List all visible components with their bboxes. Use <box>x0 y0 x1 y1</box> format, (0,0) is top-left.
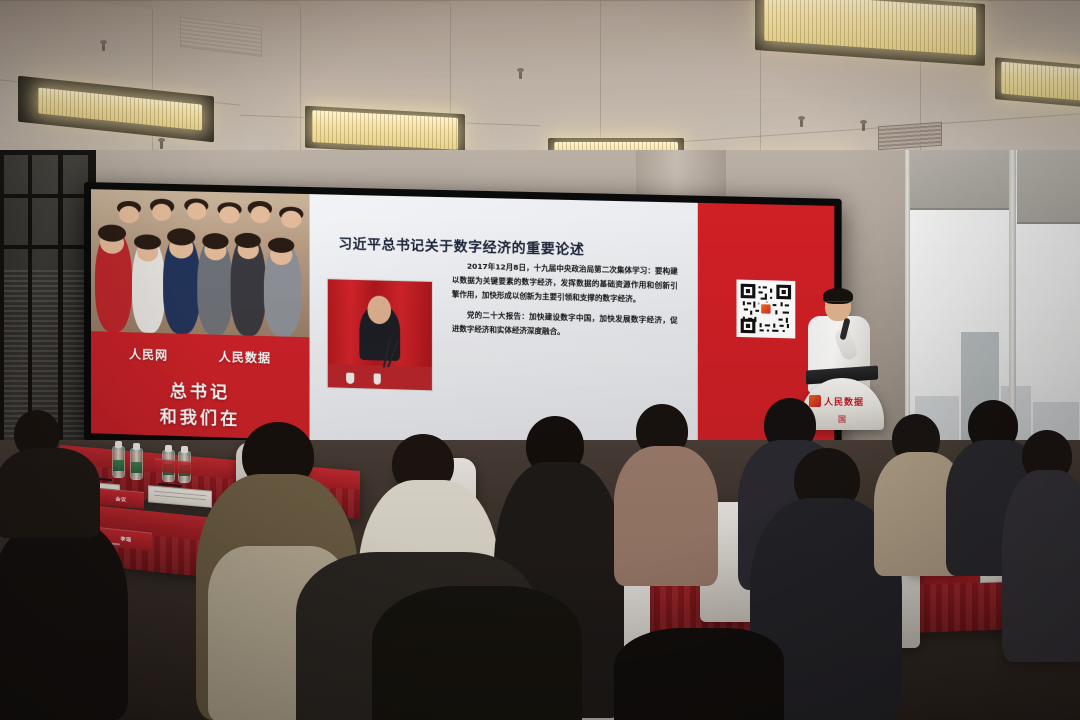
qr-code[interactable] <box>736 280 795 339</box>
slide-title: 习近平总书记关于数字经济的重要论述 <box>338 232 584 258</box>
slide-photo <box>327 278 433 391</box>
logo-renminshuju: 人民数据 <box>219 348 272 367</box>
sprinkler-head <box>102 42 105 51</box>
conference-room-photo: 人民网 人民数据 总书记 和我们在 习近平总书记关于数字经济的重要论述 <box>0 0 1080 720</box>
audience-member-foreground <box>614 628 784 720</box>
screen-content: 人民网 人民数据 总书记 和我们在 习近平总书记关于数字经济的重要论述 <box>91 189 834 457</box>
group-photo <box>91 189 310 337</box>
floor-area: 会议 李瑶 <box>0 440 1080 720</box>
sprinkler-head <box>800 118 803 127</box>
audience-member <box>0 410 100 530</box>
sprinkler-head <box>160 140 163 149</box>
water-bottle[interactable] <box>130 448 143 480</box>
slide-paragraph-1: 2017年12月8日，十九届中央政治局第二次集体学习：要构建以数据为关键要素的数… <box>452 259 678 308</box>
eyeglasses <box>826 301 850 306</box>
audience-member-foreground <box>372 586 582 720</box>
name-card-text: 李瑶 <box>120 535 131 543</box>
audience-area: 会议 李瑶 <box>0 440 1080 720</box>
audience-member <box>612 404 716 584</box>
screen-left-panel: 人民网 人民数据 总书记 和我们在 <box>91 189 310 440</box>
qr-center-logo <box>759 303 773 317</box>
slide-paragraph-2: 党的二十大报告：加快建设数字中国，加快发展数字经济，促进数字经济和实体经济深度融… <box>452 307 678 342</box>
window-blind[interactable] <box>905 150 1013 210</box>
logo-renminwang: 人民网 <box>129 345 168 363</box>
sprinkler-head <box>519 70 522 79</box>
brand-logos: 人民网 人民数据 <box>104 344 296 367</box>
sprinkler-head <box>862 122 865 131</box>
audience-member <box>1006 430 1080 660</box>
slide-body: 2017年12月8日，十九届中央政治局第二次集体学习：要构建以数据为关键要素的数… <box>452 259 678 347</box>
air-vent <box>878 122 942 150</box>
window-blind[interactable] <box>1017 150 1080 224</box>
